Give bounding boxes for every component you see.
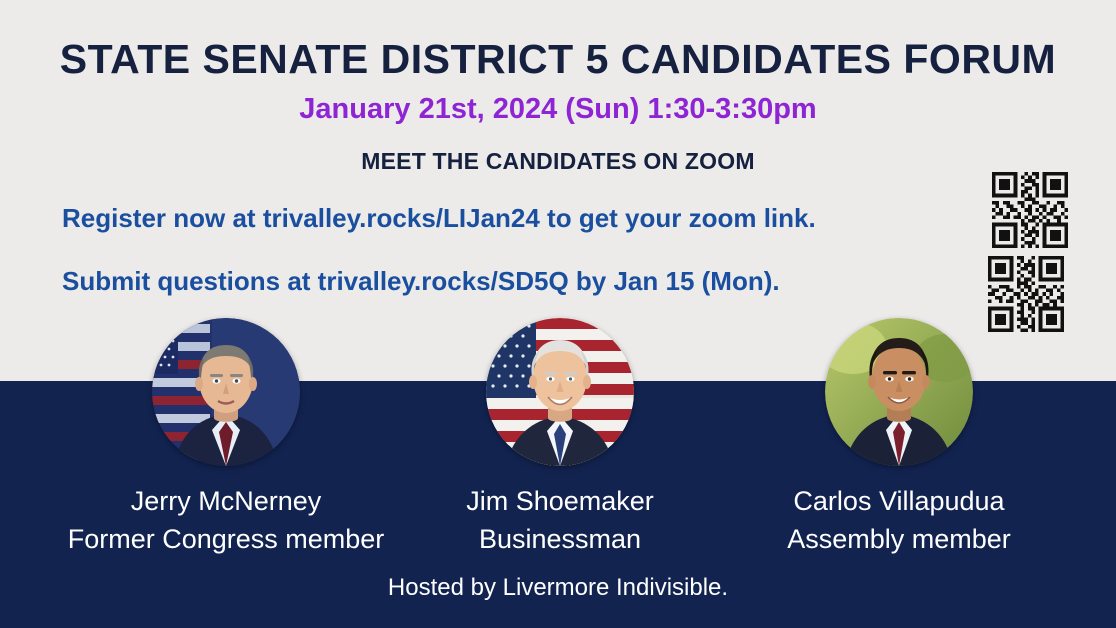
candidate-role: Assembly member (729, 520, 1069, 558)
avatar (152, 318, 300, 466)
question-submission-instructions: Submit questions at trivalley.rocks/SD5Q… (62, 266, 962, 297)
candidate-role: Former Congress member (56, 520, 396, 558)
event-poster: STATE SENATE DISTRICT 5 CANDIDATES FORUM… (0, 0, 1116, 628)
carlos-villapudua-portrait (825, 318, 973, 466)
jerry-mcnerney-portrait (152, 318, 300, 466)
candidate-name: Jim Shoemaker (390, 482, 730, 520)
qr-code-register-icon (992, 172, 1068, 248)
registration-instructions: Register now at trivalley.rocks/LIJan24 … (62, 203, 962, 234)
candidate-card: Carlos Villapudua Assembly member (729, 318, 1069, 559)
event-datetime: January 21st, 2024 (Sun) 1:30-3:30pm (0, 93, 1116, 126)
event-tagline: MEET THE CANDIDATES ON ZOOM (0, 148, 1116, 175)
candidate-name: Jerry McNerney (56, 482, 396, 520)
candidate-name: Carlos Villapudua (729, 482, 1069, 520)
avatar (486, 318, 634, 466)
candidate-role: Businessman (390, 520, 730, 558)
candidate-card: Jim Shoemaker Businessman (390, 318, 730, 559)
page-title: STATE SENATE DISTRICT 5 CANDIDATES FORUM (0, 38, 1116, 81)
candidate-card: Jerry McNerney Former Congress member (56, 318, 396, 559)
host-credit: Hosted by Livermore Indivisible. (0, 574, 1116, 602)
jim-shoemaker-portrait (486, 318, 634, 466)
avatar (825, 318, 973, 466)
